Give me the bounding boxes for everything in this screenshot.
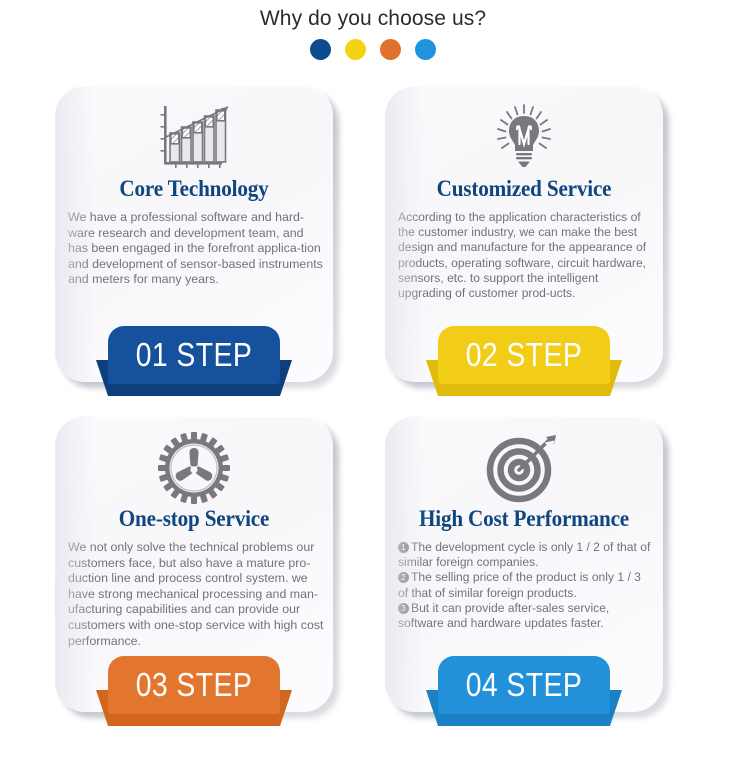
page-title: Why do you choose us? [0,7,746,31]
step-badge-label: 02 STEP [450,326,598,384]
header: Why do you choose us? [0,0,746,74]
dot-orange [380,39,401,60]
card-heading: Customized Service [396,176,652,202]
feature-card-customized-service[interactable]: Customized Service According to the appl… [385,86,663,386]
step-badge-label: 03 STEP [120,656,268,714]
step-badge-label: 04 STEP [450,656,598,714]
card-heading: Core Technology [66,176,322,202]
step-badge-03[interactable]: 03 STEP [108,656,280,726]
card-body-text: We have a professional software and hard… [68,210,324,288]
list-item-text: The selling price of the product is only… [398,570,641,599]
step-badge-01[interactable]: 01 STEP [108,326,280,396]
list-item-text: But it can provide after-sales service, … [398,601,609,630]
dot-light-blue [415,39,436,60]
target-arrow-icon [385,430,663,506]
feature-card-grid: Core Technology We have a professional s… [0,86,746,780]
card-body-text: According to the application characteris… [398,210,654,301]
list-item: 2The selling price of the product is onl… [398,570,654,600]
feature-card-core-technology[interactable]: Core Technology We have a professional s… [55,86,333,386]
list-number-badge: 3 [398,603,409,614]
dot-dark-blue [310,39,331,60]
list-item: 1The development cycle is only 1 / 2 of … [398,540,654,570]
gear-wheel-icon [55,430,333,506]
feature-card-high-cost-performance[interactable]: High Cost Performance 1The development c… [385,416,663,716]
dot-yellow [345,39,366,60]
list-item: 3But it can provide after-sales service,… [398,601,654,631]
step-badge-label: 01 STEP [120,326,268,384]
step-badge-02[interactable]: 02 STEP [438,326,610,396]
step-badge-04[interactable]: 04 STEP [438,656,610,726]
bar-chart-growth-icon [55,100,333,176]
feature-card-one-stop-service[interactable]: One-stop Service We not only solve the t… [55,416,333,716]
list-number-badge: 1 [398,542,409,553]
card-heading: High Cost Performance [396,506,652,532]
card-body-list: 1The development cycle is only 1 / 2 of … [398,540,654,631]
dot-row [0,39,746,60]
card-body-text: We not only solve the technical problems… [68,540,324,649]
list-item-text: The development cycle is only 1 / 2 of t… [398,540,650,569]
list-number-badge: 2 [398,572,409,583]
light-bulb-idea-icon [385,100,663,176]
card-heading: One-stop Service [66,506,322,532]
